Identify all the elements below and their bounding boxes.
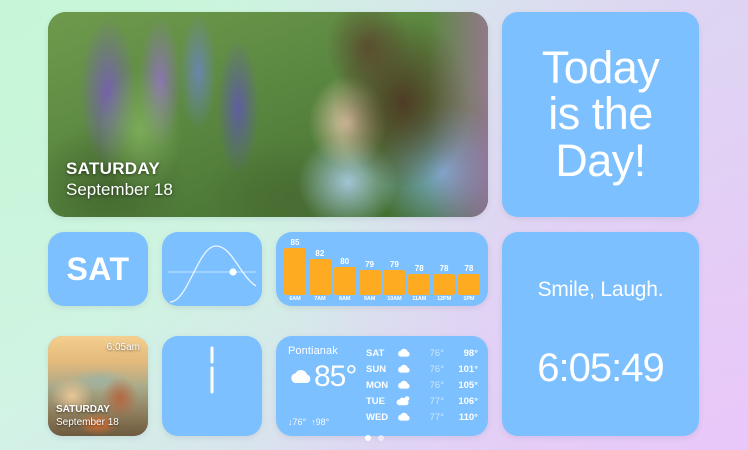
weather-now-row: 85° xyxy=(288,362,366,392)
quote-line-2: is the xyxy=(542,91,660,137)
weather-high: 98° xyxy=(316,417,330,427)
forecast-day-label: WED xyxy=(366,412,396,423)
quote-line-1: Today xyxy=(542,45,660,91)
bar-column: 7811AM xyxy=(408,238,430,302)
bar-rect xyxy=(284,248,306,294)
photo-widget-large[interactable]: SATURDAY September 18 xyxy=(48,12,488,217)
bar-rect xyxy=(433,274,455,295)
bar-rect xyxy=(383,270,405,294)
forecast-low: 76° xyxy=(418,380,444,391)
photo-date-label: September 18 xyxy=(66,179,173,201)
bar-value-label: 79 xyxy=(390,261,399,269)
photo-widget-small[interactable]: 6:05am SATURDAY September 18 xyxy=(48,336,148,436)
clock-widget[interactable]: Smile, Laugh. 6:05:49 xyxy=(502,232,699,436)
bar-column: 827AM xyxy=(309,238,331,302)
bar-category-label: 12PM xyxy=(437,297,451,303)
bar-category-label: 8AM xyxy=(339,297,350,303)
weather-widget[interactable]: Pontianak 85° ↓76° ↑98° SAT76°98°SUN76°1… xyxy=(276,336,488,436)
weather-forecast-row: SUN76°101° xyxy=(366,361,478,377)
weather-range: ↓76° ↑98° xyxy=(288,417,329,427)
photo-small-date-label: September 18 xyxy=(56,416,119,429)
bar-value-label: 79 xyxy=(365,261,374,269)
forecast-high: 105° xyxy=(444,380,478,391)
forecast-high: 101° xyxy=(444,364,478,375)
forecast-low: 77° xyxy=(418,396,444,407)
bar-chart-plot: 856AM827AM808AM799AM7910AM7811AM7812PM78… xyxy=(284,238,480,302)
bar-value-label: 85 xyxy=(291,239,300,247)
weekday-label: SAT xyxy=(66,251,129,288)
weather-city-label: Pontianak xyxy=(288,345,366,357)
photo-day-label: SATURDAY xyxy=(66,158,173,179)
weather-low: 76° xyxy=(293,417,307,427)
bar-rect xyxy=(458,274,480,295)
clock-message: Smile, Laugh. xyxy=(538,278,664,302)
weather-current: Pontianak 85° ↓76° ↑98° xyxy=(276,336,366,436)
bar-value-label: 78 xyxy=(415,265,424,273)
forecast-day-label: SUN xyxy=(366,364,396,375)
bar-category-label: 11AM xyxy=(412,297,426,303)
cloud-icon xyxy=(396,411,418,423)
weather-forecast-row: TUE77°106° xyxy=(366,393,478,409)
bar-rect xyxy=(408,274,430,295)
weather-forecast-list: SAT76°98°SUN76°101°MON76°105°TUE77°106°W… xyxy=(366,336,488,436)
bar-category-label: 6AM xyxy=(289,297,300,303)
bar-column: 808AM xyxy=(334,238,356,302)
cloud-icon xyxy=(396,379,418,391)
quote-text: Today is the Day! xyxy=(542,45,660,184)
weather-forecast-row: SAT76°98° xyxy=(366,345,478,361)
bar-column: 7910AM xyxy=(383,238,405,302)
vertical-dashed-line-icon xyxy=(162,336,262,436)
vertical-line-widget[interactable] xyxy=(162,336,262,436)
photo-edge-blur xyxy=(418,12,488,217)
bar-rect xyxy=(334,267,356,295)
page-dot-active[interactable] xyxy=(365,435,371,441)
forecast-low: 77° xyxy=(418,412,444,423)
weekday-widget[interactable]: SAT xyxy=(48,232,148,306)
weather-temperature: 85° xyxy=(314,362,356,392)
page-indicator[interactable] xyxy=(0,435,748,441)
quote-line-3: Day! xyxy=(542,138,660,184)
bar-value-label: 80 xyxy=(340,258,349,266)
sun-arc-icon xyxy=(162,232,262,306)
bar-value-label: 78 xyxy=(440,265,449,273)
bar-column: 856AM xyxy=(284,238,306,302)
widget-wallpaper-screen: SATURDAY September 18 Today is the Day! … xyxy=(0,0,748,450)
sun-arc-widget[interactable] xyxy=(162,232,262,306)
clock-time: 6:05:49 xyxy=(537,346,663,391)
cloud-icon xyxy=(288,367,314,387)
forecast-high: 98° xyxy=(444,348,478,359)
bar-column: 781PM xyxy=(458,238,480,302)
bar-category-label: 1PM xyxy=(463,297,474,303)
forecast-low: 76° xyxy=(418,364,444,375)
bar-rect xyxy=(309,259,331,294)
hourly-temperature-chart-widget[interactable]: 856AM827AM808AM799AM7910AM7811AM7812PM78… xyxy=(276,232,488,306)
sun-cloud-icon xyxy=(396,395,418,407)
forecast-day-label: MON xyxy=(366,380,396,391)
forecast-day-label: TUE xyxy=(366,396,396,407)
weather-forecast-row: WED77°110° xyxy=(366,409,478,425)
photo-caption-large: SATURDAY September 18 xyxy=(66,158,173,201)
photo-caption-small: SATURDAY September 18 xyxy=(56,404,119,430)
bar-rect xyxy=(359,270,381,294)
bar-category-label: 7AM xyxy=(314,297,325,303)
bar-category-label: 9AM xyxy=(364,297,375,303)
bar-value-label: 82 xyxy=(315,250,324,258)
photo-small-day-label: SATURDAY xyxy=(56,404,119,417)
weather-forecast-row: MON76°105° xyxy=(366,377,478,393)
forecast-day-label: SAT xyxy=(366,348,396,359)
forecast-high: 110° xyxy=(444,412,478,423)
bar-value-label: 78 xyxy=(464,265,473,273)
cloud-icon xyxy=(396,363,418,375)
quote-widget-large[interactable]: Today is the Day! xyxy=(502,12,699,217)
page-dot[interactable] xyxy=(378,435,384,441)
forecast-high: 106° xyxy=(444,396,478,407)
photo-time-label: 6:05am xyxy=(107,342,140,353)
forecast-low: 76° xyxy=(418,348,444,359)
bar-column: 799AM xyxy=(359,238,381,302)
bar-category-label: 10AM xyxy=(387,297,401,303)
cloud-icon xyxy=(396,347,418,359)
bar-column: 7812PM xyxy=(433,238,455,302)
